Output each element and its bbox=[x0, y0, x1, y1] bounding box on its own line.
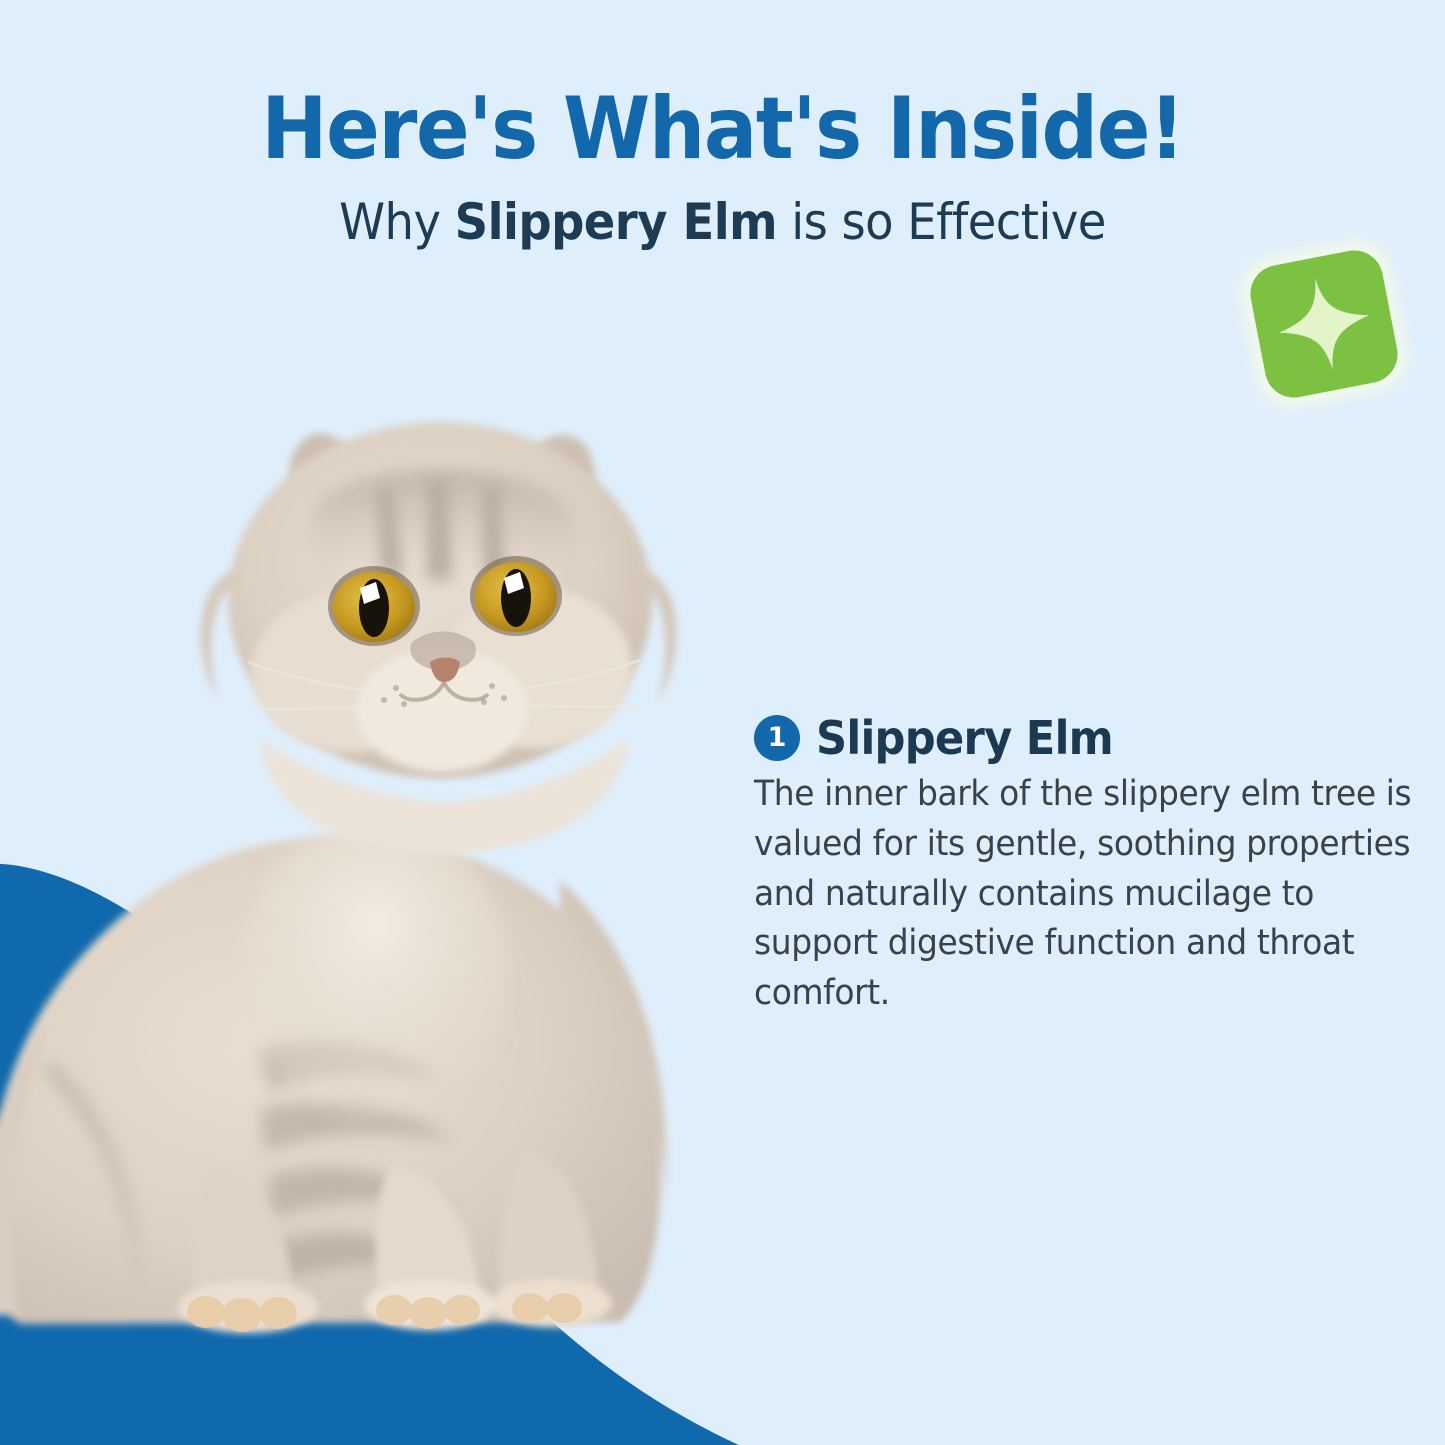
ingredient-number-badge: 1 bbox=[754, 715, 800, 761]
cat-head-group bbox=[200, 422, 676, 854]
cat-body-group bbox=[0, 422, 677, 1333]
ingredient-title: Slippery Elm bbox=[816, 714, 1113, 762]
subtitle-suffix: is so Effective bbox=[777, 193, 1106, 251]
sparkle-badge bbox=[1235, 235, 1413, 413]
ingredient-title-row: 1 Slippery Elm bbox=[754, 714, 1434, 762]
cat-photo bbox=[0, 410, 740, 1340]
subtitle-emphasis: Slippery Elm bbox=[455, 193, 777, 251]
page-title: Here's What's Inside! bbox=[58, 86, 1387, 172]
ingredient-description: The inner bark of the slippery elm tree … bbox=[754, 770, 1431, 1018]
cat-paws bbox=[178, 1279, 612, 1333]
sparkle-icon bbox=[1265, 265, 1382, 382]
ingredient-item: 1 Slippery Elm The inner bark of the sli… bbox=[754, 714, 1434, 1019]
page-subtitle: Why Slippery Elm is so Effective bbox=[51, 172, 1395, 249]
header: Here's What's Inside! Why Slippery Elm i… bbox=[0, 0, 1445, 249]
promo-infographic: Here's What's Inside! Why Slippery Elm i… bbox=[0, 0, 1445, 1445]
subtitle-prefix: Why bbox=[339, 193, 455, 251]
